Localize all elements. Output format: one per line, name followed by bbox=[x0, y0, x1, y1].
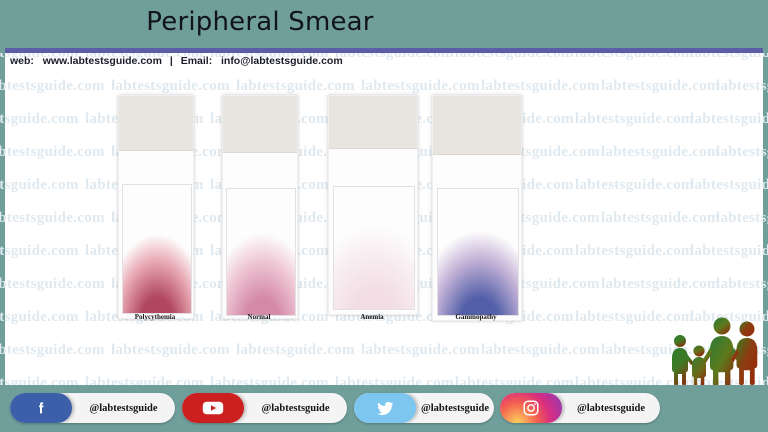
watermark-text: labtestsguide.com bbox=[575, 53, 694, 62]
contact-email-label: Email: bbox=[181, 55, 213, 67]
instagram-icon[interactable] bbox=[500, 393, 562, 423]
slide-caption: Gammopathy bbox=[402, 313, 550, 321]
watermark-text: labtestsguide.com bbox=[690, 53, 768, 62]
slide-page: Peripheral Smear labtestsguide.comlabtes… bbox=[0, 0, 768, 432]
social-badge-instagram[interactable]: @labtestsguide bbox=[500, 393, 660, 423]
slide-frosted-label-area bbox=[433, 96, 521, 155]
watermark-text: labtestsguide.com bbox=[0, 375, 79, 385]
facebook-icon[interactable] bbox=[10, 393, 72, 423]
watermark-text: labtestsguide.com bbox=[85, 375, 204, 385]
accent-divider bbox=[0, 48, 768, 53]
page-title: Peripheral Smear bbox=[0, 4, 520, 40]
contact-info: web: www.labtestsguide.com | Email: info… bbox=[10, 55, 343, 67]
contact-separator: | bbox=[165, 55, 178, 67]
specimen-slide[interactable] bbox=[328, 95, 418, 315]
watermark-text: labtestsguide.com bbox=[455, 375, 574, 385]
watermark-text: labtestsguide.com bbox=[361, 342, 480, 359]
slide-frosted-label-area bbox=[329, 96, 417, 149]
slide-coverglass bbox=[437, 188, 520, 316]
social-handle: @labtestsguide bbox=[416, 393, 494, 423]
watermark-text: labtestsguide.com bbox=[210, 375, 329, 385]
slides-container: PolycythemiaNormalAnemiaGammopathy bbox=[0, 80, 768, 320]
header-bar: Peripheral Smear bbox=[0, 0, 768, 48]
social-badge-facebook[interactable]: @labtestsguide bbox=[10, 393, 175, 423]
blood-smear-stain bbox=[334, 187, 415, 309]
blood-smear-stain bbox=[227, 189, 295, 315]
specimen-slide[interactable] bbox=[432, 95, 522, 321]
social-links-row: @labtestsguide@labtestsguide@labtestsgui… bbox=[0, 385, 768, 432]
blood-smear-stain bbox=[123, 185, 191, 313]
slide-coverglass bbox=[122, 184, 192, 314]
watermark-text: labtestsguide.com bbox=[335, 375, 454, 385]
watermark-text: labtestsguide.com bbox=[0, 342, 105, 359]
slide-coverglass bbox=[333, 186, 416, 310]
contact-web-label: web: bbox=[10, 55, 34, 67]
watermark-text: labtestsguide.com bbox=[335, 53, 454, 62]
twitter-icon[interactable] bbox=[354, 393, 416, 423]
blood-smear-stain bbox=[438, 189, 519, 315]
watermark-text: labtestsguide.com bbox=[111, 342, 230, 359]
slide-coverglass bbox=[226, 188, 296, 316]
social-badge-twitter[interactable]: @labtestsguide bbox=[354, 393, 494, 423]
youtube-icon[interactable] bbox=[182, 393, 244, 423]
contact-web-value[interactable]: www.labtestsguide.com bbox=[43, 55, 162, 67]
social-handle: @labtestsguide bbox=[562, 393, 660, 423]
social-handle: @labtestsguide bbox=[244, 393, 347, 423]
slide-frosted-label-area bbox=[223, 96, 297, 153]
watermark-text: labtestsguide.com bbox=[481, 342, 600, 359]
family-silhouette-graphic bbox=[668, 310, 762, 388]
specimen-slide[interactable] bbox=[118, 95, 194, 319]
social-badge-youtube[interactable]: @labtestsguide bbox=[182, 393, 347, 423]
social-handle: @labtestsguide bbox=[72, 393, 175, 423]
watermark-text: labtestsguide.com bbox=[455, 53, 574, 62]
contact-email-value[interactable]: info@labtestsguide.com bbox=[221, 55, 343, 67]
watermark-text: labtestsguide.com bbox=[236, 342, 355, 359]
slide-frosted-label-area bbox=[119, 96, 193, 151]
specimen-slide[interactable] bbox=[222, 95, 298, 319]
